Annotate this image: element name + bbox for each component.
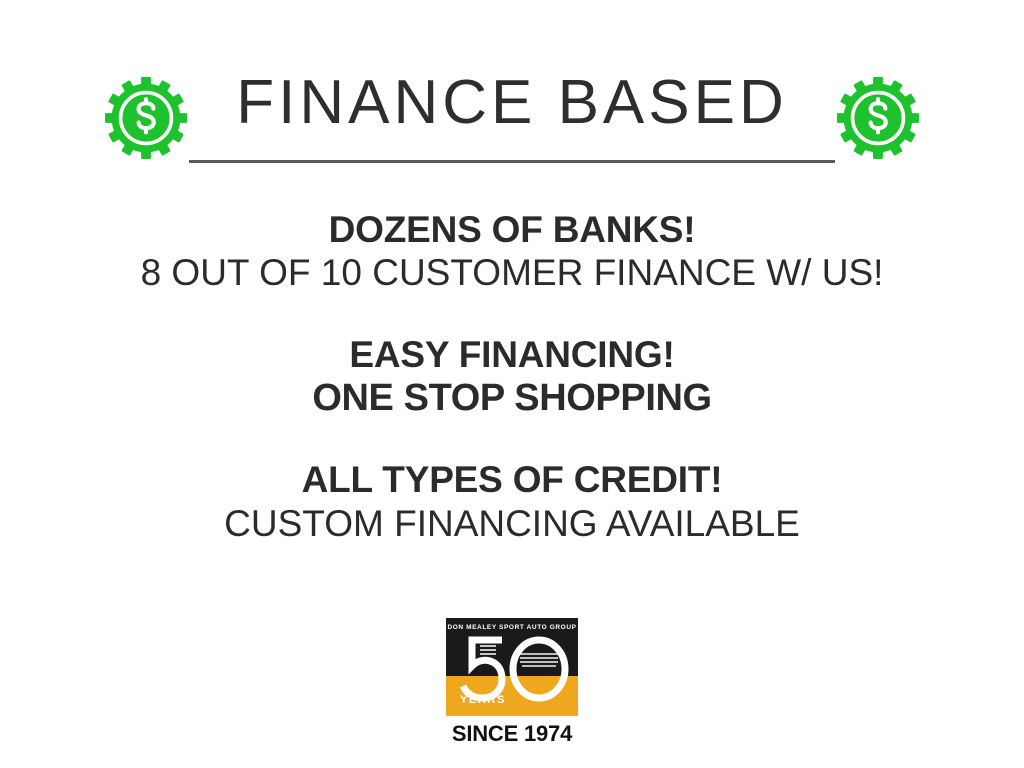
logo-mark: DON MEALEY SPORT AUTO GROUP <box>446 618 578 716</box>
body-copy: DOZENS OF BANKS! 8 OUT OF 10 CUSTOMER FI… <box>0 208 1024 545</box>
copy-subline: ONE STOP SHOPPING <box>0 376 1024 420</box>
title-group: FINANCE BASED <box>187 72 837 163</box>
copy-block: ALL TYPES OF CREDIT! CUSTOM FINANCING AV… <box>0 458 1024 545</box>
title-divider <box>189 160 835 163</box>
copy-headline: EASY FINANCING! <box>0 333 1024 376</box>
logo-group-name: DON MEALEY SPORT AUTO GROUP <box>446 624 578 631</box>
logo-years-label: YEARS <box>460 694 506 706</box>
logo-since-text: SINCE 1974 <box>446 721 578 747</box>
copy-headline: ALL TYPES OF CREDIT! <box>0 458 1024 501</box>
copy-subline: 8 OUT OF 10 CUSTOMER FINANCE W/ US! <box>0 251 1024 294</box>
copy-subline: CUSTOM FINANCING AVAILABLE <box>0 502 1024 545</box>
copy-headline: DOZENS OF BANKS! <box>0 208 1024 251</box>
gear-dollar-icon <box>105 77 187 159</box>
copy-block: EASY FINANCING! ONE STOP SHOPPING <box>0 333 1024 421</box>
slide-header: FINANCE BASED <box>0 72 1024 163</box>
copy-block: DOZENS OF BANKS! 8 OUT OF 10 CUSTOMER FI… <box>0 208 1024 295</box>
gear-dollar-icon <box>837 77 919 159</box>
page-title: FINANCE BASED <box>236 72 788 148</box>
dealer-logo: DON MEALEY SPORT AUTO GROUP <box>446 618 578 747</box>
finance-based-slide: FINANCE BASED <box>0 0 1024 768</box>
